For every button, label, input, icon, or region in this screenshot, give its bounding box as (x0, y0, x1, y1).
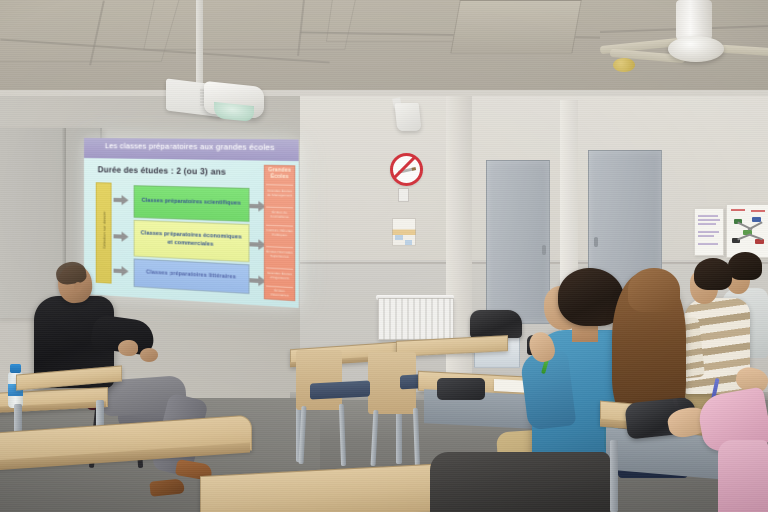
ge-item: Écoles Normales Supérieures (266, 249, 293, 259)
chair-back[interactable] (296, 350, 342, 410)
grandes-ecoles-column: Grandes Écoles Grandes Écoles de Managem… (264, 165, 295, 301)
right-arrow-icon (114, 231, 129, 242)
track-label: Classes préparatoires scientifiques (139, 198, 245, 209)
grandes-ecoles-header: Grandes Écoles (265, 167, 294, 181)
track-label: Classes préparatoires économiques et com… (135, 230, 249, 251)
student-pink-torso (718, 440, 768, 512)
no-smoking-icon (390, 153, 423, 186)
door-left[interactable] (486, 160, 550, 324)
ge-item: Grandes Écoles d'Ingénieurs (266, 271, 293, 281)
presenter-hand (140, 348, 158, 362)
selection-bar: Sélection sur dossier (96, 182, 112, 283)
projected-slide: Les classes préparatoires aux grandes éc… (84, 138, 299, 308)
track-box-economique: Classes préparatoires économiques et com… (134, 220, 250, 262)
pencil-case[interactable] (437, 378, 485, 400)
poster-text (694, 208, 724, 256)
track-box-litteraire: Classes préparatoires littéraires (134, 259, 250, 295)
ge-item: Grandes Écoles de Management (266, 188, 293, 197)
ceiling-vent (450, 0, 582, 54)
ge-item: Instituts d'Études Politiques (266, 228, 293, 238)
ge-item: Écoles Vétérinaires (266, 288, 293, 298)
desk-leg (610, 440, 618, 512)
presenter-hand (118, 340, 138, 356)
bin-bag (470, 310, 522, 338)
ge-item: Écoles de Journalisme (266, 210, 293, 220)
classroom-photo: Les classes préparatoires aux grandes éc… (0, 0, 768, 512)
radiator (378, 298, 454, 340)
track-box-scientifique: Classes préparatoires scientifiques (134, 185, 250, 222)
slide-subtitle: Durée des études : 2 (ou 3) ans (98, 165, 226, 177)
sign-tag (398, 188, 409, 202)
right-arrow-icon (114, 266, 129, 277)
projector-pole (196, 0, 203, 84)
right-arrow-icon (114, 195, 129, 206)
poster-diagram (726, 204, 768, 258)
foreground-shadow (430, 452, 610, 512)
track-label: Classes préparatoires littéraires (143, 269, 239, 283)
chair-seat-blue[interactable] (310, 380, 370, 399)
bottle-cap[interactable] (10, 364, 21, 373)
wall-poster-small (392, 218, 416, 246)
selection-bar-label: Sélection sur dossier (103, 194, 107, 267)
student-hair (694, 258, 732, 290)
